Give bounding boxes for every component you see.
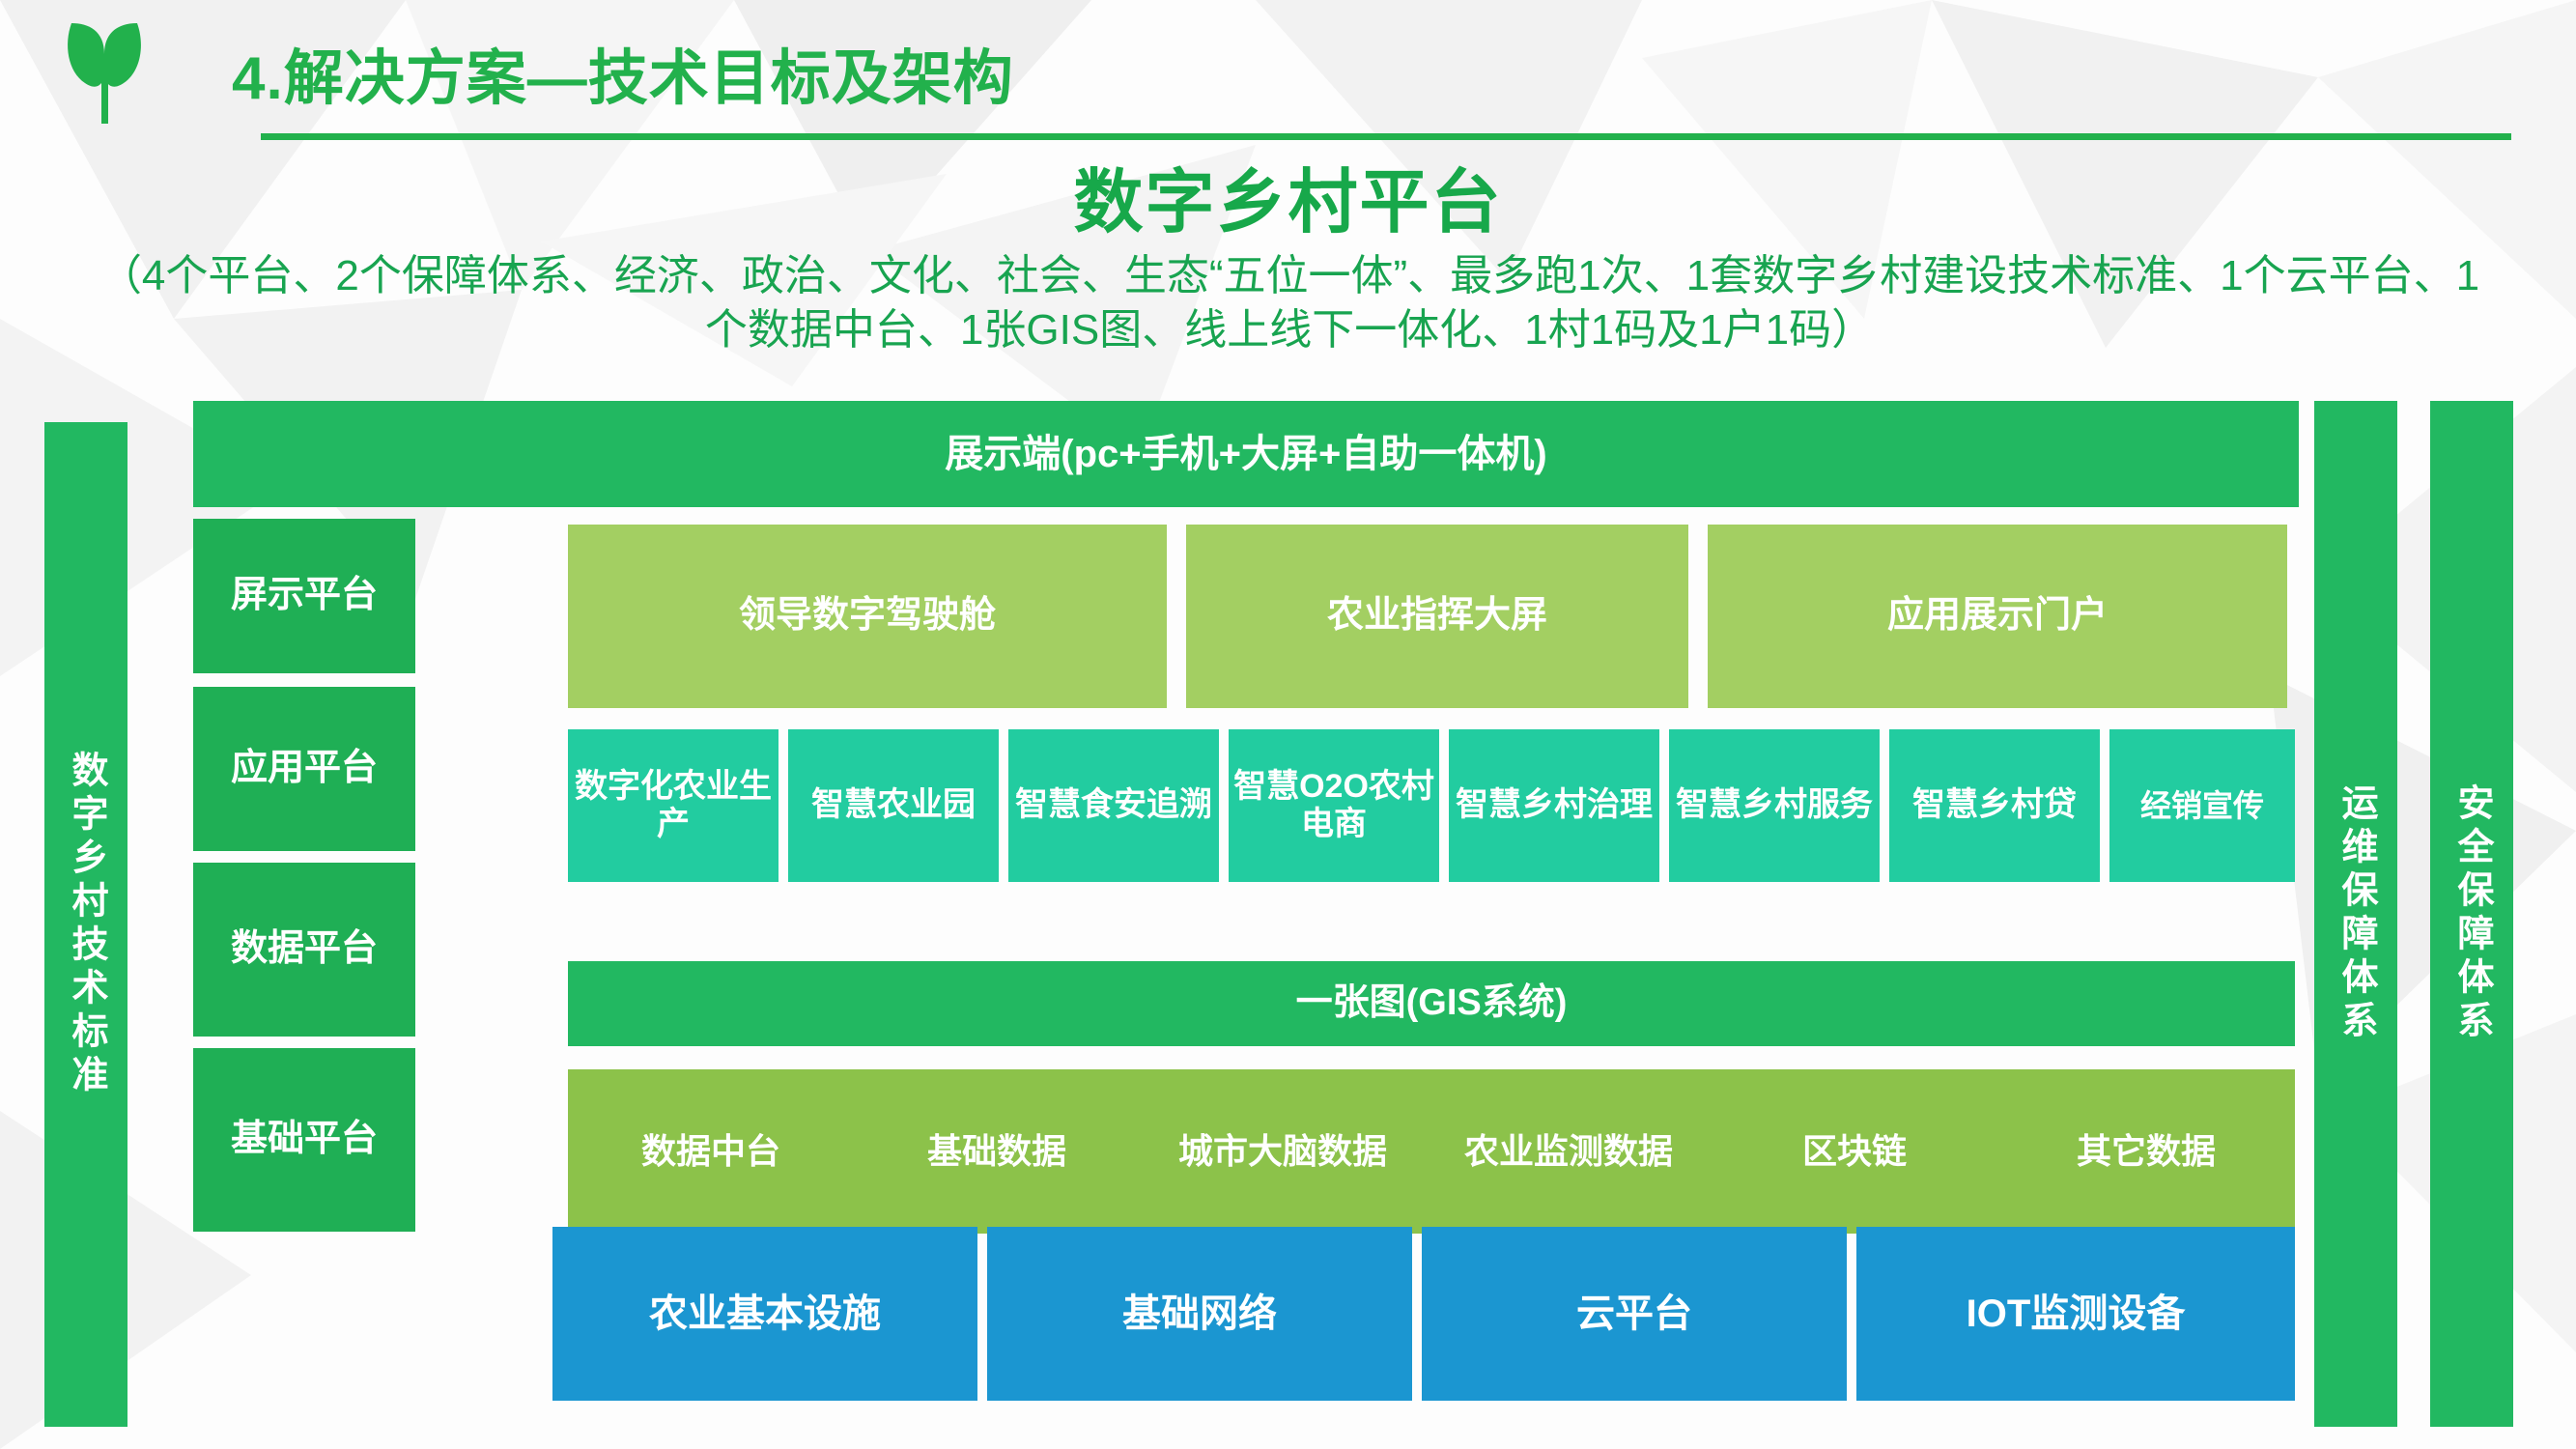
layer-label-text-3: 基础平台 [193,1048,415,1232]
infra-item-0: 农业基本设施 [552,1227,977,1401]
data-item-5: 其它数据 [1997,1069,2295,1234]
app-item-label-7: 经销宣传 [2109,729,2295,882]
app-item-label-3: 智慧O2O农村电商 [1229,729,1439,882]
app-item-3: 智慧O2O农村电商 [1229,729,1439,882]
data-item-label-1: 基础数据 [854,1069,1140,1234]
display-item-1: 农业指挥大屏 [1186,525,1688,708]
data-item-2: 城市大脑数据 [1140,1069,1426,1234]
app-item-6: 智慧乡村贷 [1889,729,2100,882]
right-pillar-label-1: 安全保障体系 [2453,783,2490,1044]
display-item-label-1: 农业指挥大屏 [1186,525,1688,708]
layer-label-text-1: 应用平台 [193,687,415,851]
display-item-label-2: 应用展示门户 [1708,525,2287,708]
infra-item-label-2: 云平台 [1422,1227,1847,1401]
data-item-0: 数据中台 [568,1069,854,1234]
right-pillar-security: 安全保障体系 [2430,401,2513,1427]
app-item-label-6: 智慧乡村贷 [1889,729,2100,882]
right-pillar-ops: 运维保障体系 [2314,401,2397,1427]
data-item-3: 农业监测数据 [1426,1069,1712,1234]
app-item-label-0: 数字化农业生产 [568,729,778,882]
top-bar-label: 展示端(pc+手机+大屏+自助一体机) [193,401,2299,507]
app-item-label-4: 智慧乡村治理 [1449,729,1659,882]
data-item-label-3: 农业监测数据 [1426,1069,1712,1234]
display-item-0: 领导数字驾驶舱 [568,525,1167,708]
infra-item-2: 云平台 [1422,1227,1847,1401]
platform-title: 数字乡村平台 [0,145,2576,246]
infra-item-label-1: 基础网络 [987,1227,1412,1401]
header-divider [261,133,2511,140]
data-item-label-2: 城市大脑数据 [1140,1069,1426,1234]
app-item-label-5: 智慧乡村服务 [1669,729,1880,882]
infra-item-label-3: IOT监测设备 [1856,1227,2295,1401]
app-item-4: 智慧乡村治理 [1449,729,1659,882]
infra-item-1: 基础网络 [987,1227,1412,1401]
layer-label-text-0: 屏示平台 [193,519,415,673]
layer-label-infrastructure: 基础平台 [193,1048,415,1232]
top-bar-display-terminals: 展示端(pc+手机+大屏+自助一体机) [193,401,2299,507]
right-pillar-label-0: 运维保障体系 [2337,783,2374,1044]
page-header: 4.解决方案—技术目标及架构 [0,0,2576,155]
display-item-label-0: 领导数字驾驶舱 [568,525,1167,708]
app-item-label-1: 智慧农业园 [788,729,999,882]
data-item-4: 区块链 [1712,1069,1997,1234]
layer-label-display: 屏示平台 [193,519,415,673]
app-item-0: 数字化农业生产 [568,729,778,882]
data-item-label-4: 区块链 [1712,1069,1997,1234]
data-item-label-0: 数据中台 [568,1069,854,1234]
layer-label-application: 应用平台 [193,687,415,851]
gis-bar-label: 一张图(GIS系统) [568,961,2295,1046]
architecture-diagram: 数字乡村技术标准 运维保障体系 安全保障体系 展示端(pc+手机+大屏+自助一体… [0,401,2576,1449]
data-item-label-5: 其它数据 [1997,1069,2295,1234]
app-item-7: 经销宣传 [2109,729,2295,882]
infra-item-label-0: 农业基本设施 [552,1227,977,1401]
left-pillar-standards: 数字乡村技术标准 [44,422,127,1427]
app-item-2: 智慧食安追溯 [1008,729,1219,882]
page-title: 4.解决方案—技术目标及架构 [232,29,1014,116]
platform-description: （4个平台、2个保障体系、经济、政治、文化、社会、生态“五位一体”、最多跑1次、… [87,249,2492,358]
gis-bar: 一张图(GIS系统) [568,961,2295,1046]
infra-item-3: IOT监测设备 [1856,1227,2295,1401]
app-item-label-2: 智慧食安追溯 [1008,729,1219,882]
layer-label-data: 数据平台 [193,863,415,1037]
left-pillar-label: 数字乡村技术标准 [68,751,104,1098]
leaf-icon [60,21,149,126]
data-item-1: 基础数据 [854,1069,1140,1234]
layer-label-text-2: 数据平台 [193,863,415,1037]
display-item-2: 应用展示门户 [1708,525,2287,708]
app-item-5: 智慧乡村服务 [1669,729,1880,882]
app-item-1: 智慧农业园 [788,729,999,882]
